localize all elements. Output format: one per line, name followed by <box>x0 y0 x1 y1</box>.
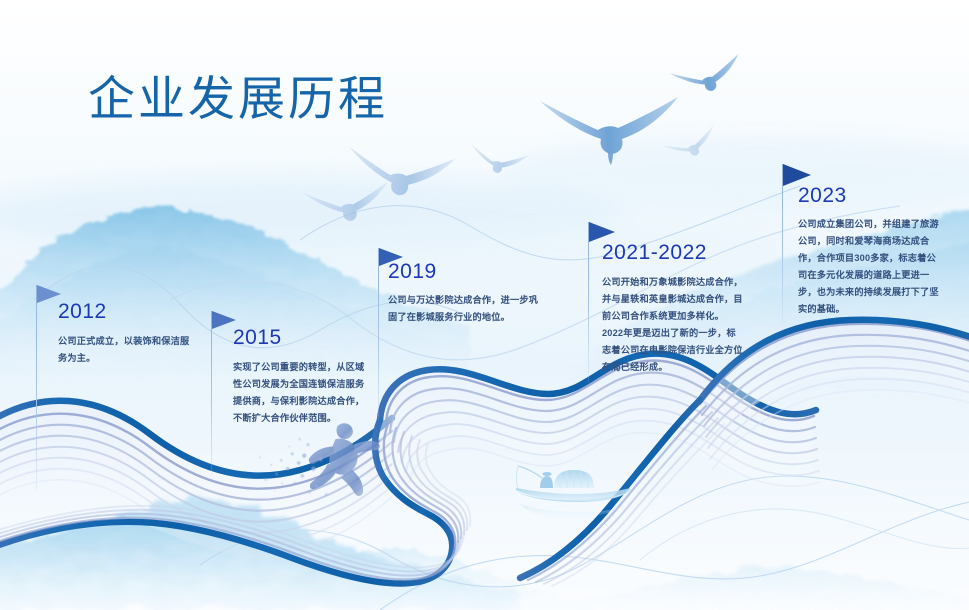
page-title: 企业发展历程 <box>88 60 388 129</box>
flag-icon <box>589 222 615 242</box>
milestone-description: 公司开始和万象城影院达成合作，并与星轶和英皇影城达成合作，目前公司合作系统更加多… <box>602 274 745 376</box>
milestone-year: 2015 <box>233 326 433 350</box>
milestone-year: 2023 <box>798 184 969 208</box>
flag-pole <box>211 311 212 476</box>
bird-icon <box>669 54 746 100</box>
ribbon-middle-segment <box>0 352 820 584</box>
milestone-description: 公司与万达影院达成合作，进一步巩固了在影城服务行业的地位。 <box>388 292 540 326</box>
bird-icon <box>343 143 456 202</box>
flag-pole <box>782 164 783 324</box>
flag-pole <box>378 248 379 420</box>
flag-pole <box>588 222 589 382</box>
bird-icon <box>303 181 392 225</box>
bird-icon <box>661 125 721 165</box>
milestone-description: 实现了公司重要的转型，从区域性公司发展为全国连锁保洁服务提供商，与保利影院达成合… <box>233 359 366 427</box>
milestone-description: 公司正式成立，以装饰和保洁服务为主。 <box>58 333 191 367</box>
bird-icon <box>540 97 678 165</box>
milestone-description: 公司成立集团公司，并组建了旅游公司，同时和爱琴海商场达成合作，合作项目300多家… <box>798 216 940 318</box>
flag-pole <box>36 285 37 490</box>
flag-icon <box>783 164 811 186</box>
poster-canvas: 企业发展历程 2012 公司正式成立，以装饰和保洁服务为主。 2015 实现了公… <box>0 0 969 610</box>
bird-icon <box>467 143 529 178</box>
milestone-year: 2021-2022 <box>602 241 822 265</box>
milestone-year: 2019 <box>388 260 588 284</box>
